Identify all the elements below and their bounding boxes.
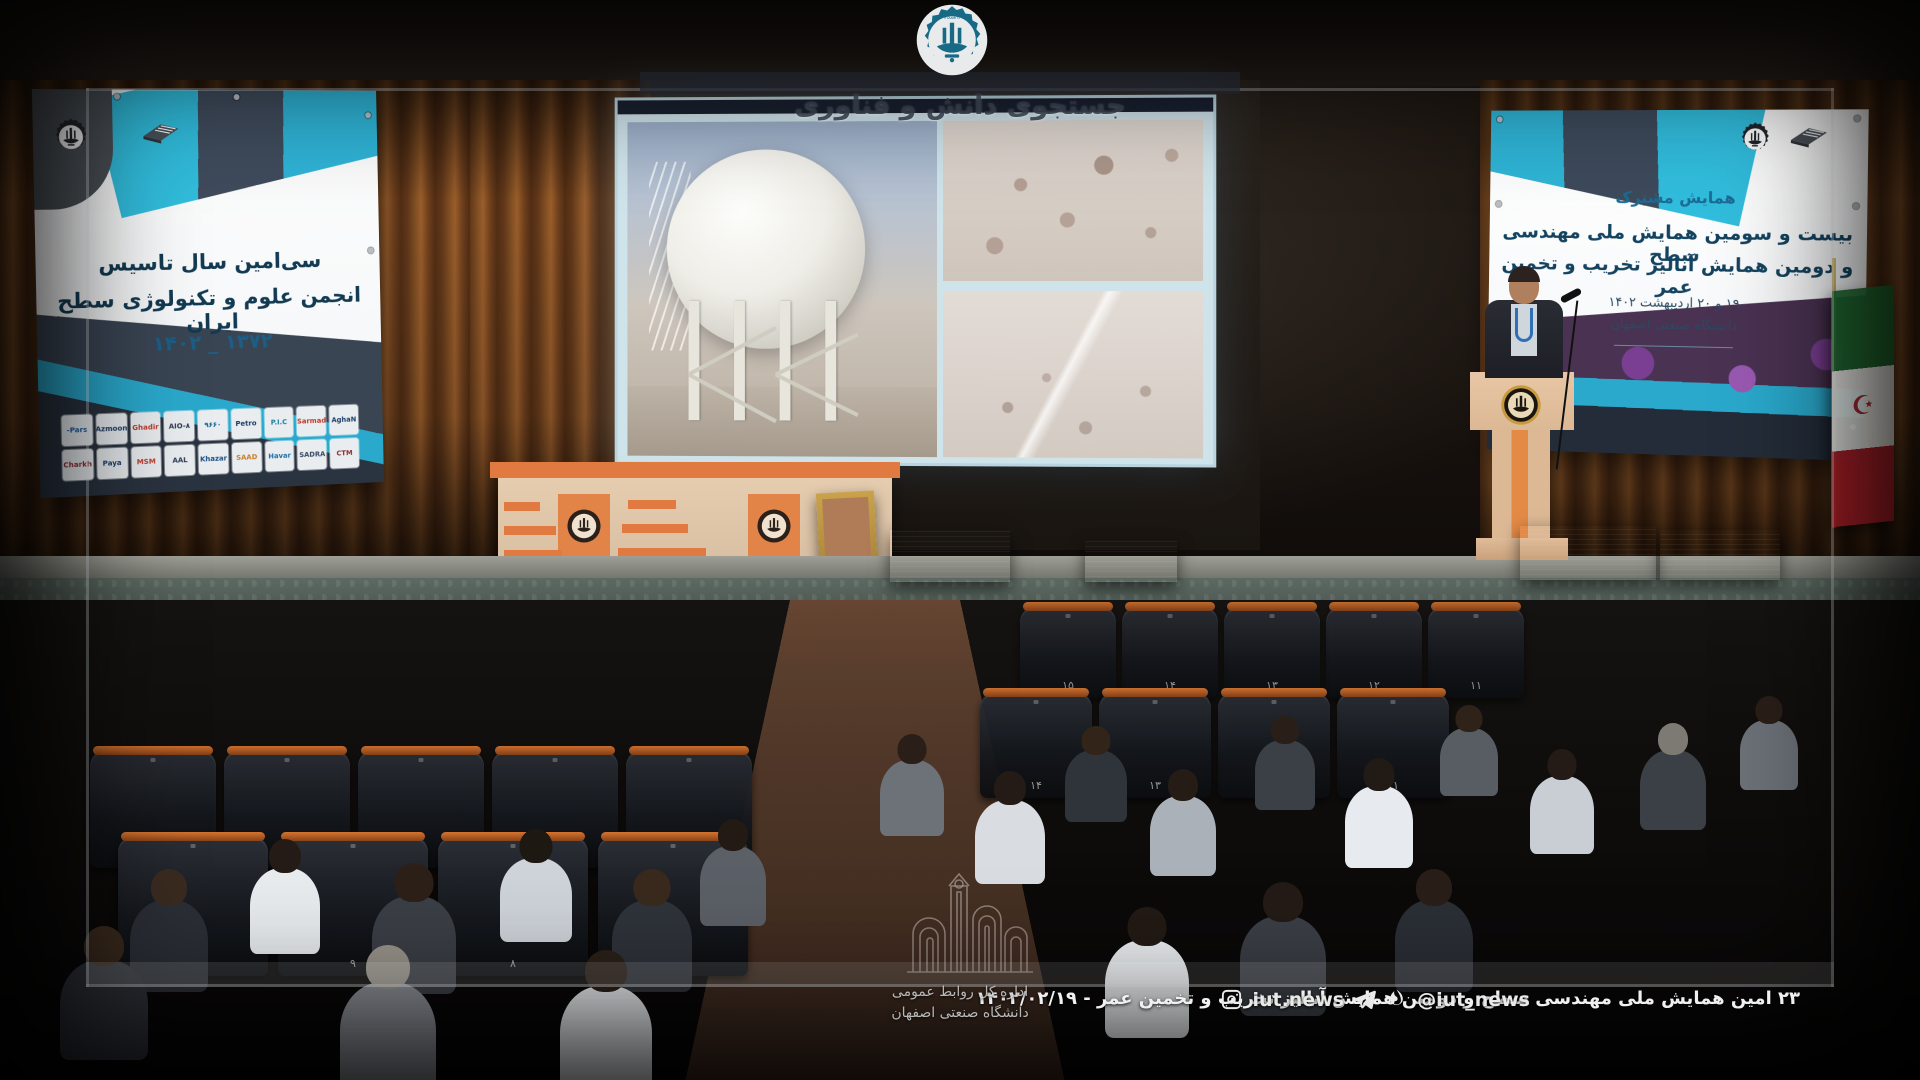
audience-member-head xyxy=(1263,882,1303,922)
audience-member xyxy=(1640,750,1706,830)
banner-right-top-decor xyxy=(1487,109,1766,226)
seat-row: ۱۱۱۲۱۳۱۴۱۵ xyxy=(1020,606,1524,698)
audience-member xyxy=(500,858,572,942)
head-table-top-edge xyxy=(490,462,900,478)
seat-number: ۱۴ xyxy=(1030,779,1042,792)
audience-member-head xyxy=(1416,869,1452,906)
audience-member xyxy=(1530,776,1594,854)
seat-headrest-dot xyxy=(419,758,424,762)
sponsor-logo: ۹۶۶۰ xyxy=(198,409,228,440)
iut-architecture-outline-icon xyxy=(905,862,1035,974)
sponsor-logo: Azmoon xyxy=(96,413,127,445)
sponsor-logo: AghaN xyxy=(329,405,358,436)
seat-headrest-dot xyxy=(1474,614,1479,618)
sponsor-logo: MSM xyxy=(131,446,162,478)
audience-member xyxy=(700,846,766,926)
anniversary-line-1: سی‌امین سال تاسیس xyxy=(35,247,379,277)
audience-member-head xyxy=(1271,716,1299,744)
sponsor-logo: Khazar xyxy=(198,443,228,474)
anniversary-banner: سی‌امین سال تاسیس انجمن علوم و تکنولوژی … xyxy=(32,89,384,498)
sponsor-logo: AAL xyxy=(165,445,195,476)
seat-number: ۱۳ xyxy=(1149,779,1161,792)
slide-storage-tank-image xyxy=(627,121,937,457)
audience-member-head xyxy=(520,829,553,863)
sponsor-logo: Charkh xyxy=(62,449,93,481)
iut-gear-emblem-icon xyxy=(566,508,602,544)
messenger-handle[interactable]: @iut_news xyxy=(1417,989,1530,1011)
audience-member-head xyxy=(1756,696,1783,724)
sponsor-logo: Pars- xyxy=(61,414,92,446)
audience-member-head xyxy=(84,926,124,966)
social-handles: iut.news @iut_news xyxy=(1220,988,1530,1011)
audience-member-head xyxy=(395,863,434,902)
loudspeaker xyxy=(1660,530,1780,580)
audience-member-head xyxy=(269,839,301,873)
seat-headrest-dot xyxy=(687,758,692,762)
svg-text:دانشگاه: دانشگاه xyxy=(944,13,960,20)
audience-seat: ۱۵ xyxy=(1020,606,1116,698)
public-relations-credit: اداره کل روابط عمومی دانشگاه صنعتی اصفها… xyxy=(891,982,1028,1024)
seat-number: ۱۱ xyxy=(1470,679,1482,692)
iran-emblem-icon: ☪ xyxy=(1851,390,1874,422)
conference-photo: سی‌امین سال تاسیس انجمن علوم و تکنولوژی … xyxy=(0,0,1920,1080)
sponsor-logo: Paya xyxy=(97,448,128,480)
surface-society-logo-icon xyxy=(1786,124,1831,150)
audience-member-head xyxy=(1082,726,1111,755)
audience-member xyxy=(1740,720,1798,790)
seat-headrest-dot xyxy=(1066,614,1071,618)
iut-gear-emblem-icon xyxy=(51,118,91,157)
audience-seat: ۱۴ xyxy=(1122,606,1218,698)
watermark-brand-text: جستجوی دانش و فناوری xyxy=(0,90,1920,121)
iut-gear-emblem-icon: دانشگاه xyxy=(916,4,988,76)
telegram-icon[interactable] xyxy=(1353,988,1376,1011)
sponsor-logo: Havar xyxy=(265,441,294,472)
seat-headrest-dot xyxy=(1168,614,1173,618)
audience-member-head xyxy=(1364,758,1395,791)
loudspeaker xyxy=(890,530,1010,582)
pr-line-1: اداره کل روابط عمومی xyxy=(891,982,1028,1003)
audience-member xyxy=(880,760,944,836)
slide-pitting-corrosion-micrograph xyxy=(943,291,1203,458)
audience-seat: ۱۲ xyxy=(1326,606,1422,698)
audience-member-head xyxy=(1456,705,1483,732)
projection-screen xyxy=(615,94,1217,467)
audience-member-head xyxy=(1658,723,1688,755)
sponsor-logo: Sarmad xyxy=(297,406,326,437)
seat-headrest-dot xyxy=(191,844,196,848)
instagram-icon[interactable] xyxy=(1220,988,1243,1011)
sponsor-logo: Petro xyxy=(231,408,261,439)
presenter-at-podium xyxy=(1485,268,1563,378)
sponsor-logo: P.I.C xyxy=(264,407,294,438)
loudspeaker xyxy=(1520,526,1656,580)
sponsor-logo: SADRA xyxy=(298,439,327,470)
lanyard-badge xyxy=(1515,308,1533,342)
audience-member xyxy=(1345,786,1413,868)
seat-headrest-dot xyxy=(671,844,676,848)
sponsor-logo: Ghadir xyxy=(130,412,161,443)
audience-member xyxy=(1440,728,1498,796)
audience-member xyxy=(340,982,436,1080)
audience-member xyxy=(560,986,652,1080)
conference-joint-label: همایش مشترک xyxy=(1490,187,1868,208)
loudspeaker xyxy=(1085,540,1177,582)
audience-member-head xyxy=(1168,769,1198,801)
sponsor-logo: AIO-۸ xyxy=(164,411,194,442)
seat-headrest-dot xyxy=(1270,614,1275,618)
seat-headrest-dot xyxy=(1391,700,1396,704)
audience-member-head xyxy=(634,869,671,906)
seat-headrest-dot xyxy=(1034,700,1039,704)
bale-icon[interactable] xyxy=(1385,988,1408,1011)
sponsor-logo: SAAD xyxy=(232,442,262,473)
audience-member-head xyxy=(1548,749,1577,780)
seat-headrest-dot xyxy=(351,844,356,848)
seat-headrest-dot xyxy=(1153,700,1158,704)
iran-flag: ☪ xyxy=(1832,285,1894,528)
audience-member-head xyxy=(151,869,187,906)
iut-gear-emblem-icon xyxy=(1738,122,1773,156)
audience-member xyxy=(1065,750,1127,822)
audience-member-head xyxy=(898,734,927,764)
iut-gear-emblem-icon xyxy=(756,508,792,544)
seat-headrest-dot xyxy=(151,758,156,762)
audience-member xyxy=(1150,796,1216,876)
seat-headrest-dot xyxy=(553,758,558,762)
pr-line-2: دانشگاه صنعتی اصفهان xyxy=(891,1003,1028,1024)
audience-member-head xyxy=(994,771,1026,805)
audience-seat: ۱۳ xyxy=(1224,606,1320,698)
slide-corroded-surface-micrograph xyxy=(943,120,1203,281)
seat-headrest-dot xyxy=(1372,614,1377,618)
seat-headrest-dot xyxy=(511,844,516,848)
audience-member-head xyxy=(718,819,748,851)
sponsor-logo: CTM xyxy=(330,438,359,469)
instagram-handle[interactable]: iut.news xyxy=(1252,989,1344,1011)
audience-member xyxy=(1255,740,1315,810)
audience-member xyxy=(250,868,320,954)
seat-headrest-dot xyxy=(285,758,290,762)
surface-society-logo-icon xyxy=(139,120,184,146)
audience-seat: ۱۱ xyxy=(1428,606,1524,698)
iut-gear-emblem-icon xyxy=(1500,384,1542,426)
audience-member-head xyxy=(1128,907,1167,946)
seat-headrest-dot xyxy=(1272,700,1277,704)
